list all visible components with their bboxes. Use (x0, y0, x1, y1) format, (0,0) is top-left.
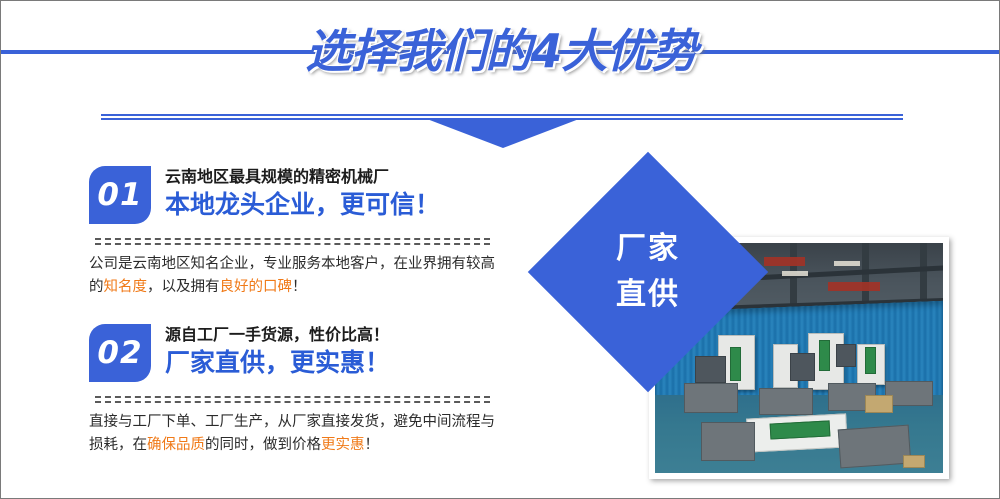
feature-number-badge: 02 (89, 324, 151, 382)
highlighted-phrase: 更实惠 (321, 437, 365, 453)
body-text-run: ！ (365, 437, 380, 453)
photo-machine-part (836, 344, 855, 367)
feature-item-01: 01 云南地区最具规模的精密机械厂 本地龙头企业，更可信！ 公司是云南地区知名企… (89, 166, 519, 300)
photo-machine-base (684, 383, 738, 413)
body-text-run: ，以及拥有 (147, 279, 220, 295)
feature-heading-text: 云南地区最具规模的精密机械厂 本地龙头企业，更可信！ (165, 166, 440, 220)
photo-machine-green (819, 340, 830, 372)
body-text-run: 的同时，做到价格 (205, 437, 321, 453)
photo-crate (903, 455, 925, 469)
photo-light (834, 261, 860, 266)
feature-number-badge: 01 (89, 166, 151, 224)
feature-headline: 本地龙头企业，更可信！ (165, 191, 440, 220)
dashed-separator (95, 396, 490, 402)
photo-machine-base (759, 388, 813, 415)
features-column: 01 云南地区最具规模的精密机械厂 本地龙头企业，更可信！ 公司是云南地区知名企… (89, 166, 519, 458)
photo-light (782, 271, 808, 276)
promo-banner: 选择我们的4大优势 01 云南地区最具规模的精密机械厂 本地龙头企业，更可信！ … (0, 0, 1000, 499)
photo-red-beam (764, 257, 804, 266)
feature-header: 02 源自工厂一手货源，性价比高！ 厂家直供，更实惠！ (89, 324, 519, 382)
photo-machine-green (865, 347, 876, 374)
feature-header: 01 云南地区最具规模的精密机械厂 本地龙头企业，更可信！ (89, 166, 519, 224)
feature-heading-text: 源自工厂一手货源，性价比高！ 厂家直供，更实惠！ (165, 324, 390, 378)
photo-machine-part (790, 353, 815, 380)
photo-machine-green (730, 347, 741, 381)
feature-subtitle: 云南地区最具规模的精密机械厂 (165, 167, 440, 187)
dashed-separator (95, 238, 490, 244)
feature-headline: 厂家直供，更实惠！ (165, 349, 390, 378)
photo-machine-base (701, 422, 755, 461)
feature-body-text: 公司是云南地区知名企业，专业服务本地客户，在业界拥有较高的知名度，以及拥有良好的… (89, 253, 509, 300)
photo-red-beam (828, 282, 880, 291)
photo-machine-base (838, 425, 912, 469)
highlighted-phrase: 良好的口碑 (220, 279, 293, 295)
highlighted-phrase: 确保品质 (147, 437, 205, 453)
feature-body-text: 直接与工厂下单、工厂生产，从厂家直接发货，避免中间流程与损耗，在确保品质的同时，… (89, 411, 509, 458)
body-text-run: ！ (292, 279, 307, 295)
title-horizontal-rule (1, 50, 999, 54)
photo-machine-part (695, 356, 726, 383)
feature-subtitle: 源自工厂一手货源，性价比高！ (165, 325, 390, 345)
highlighted-phrase: 知名度 (104, 279, 148, 295)
photo-crate (865, 395, 893, 413)
feature-item-02: 02 源自工厂一手货源，性价比高！ 厂家直供，更实惠！ 直接与工厂下单、工厂生产… (89, 324, 519, 458)
chevron-down-icon (427, 119, 579, 148)
